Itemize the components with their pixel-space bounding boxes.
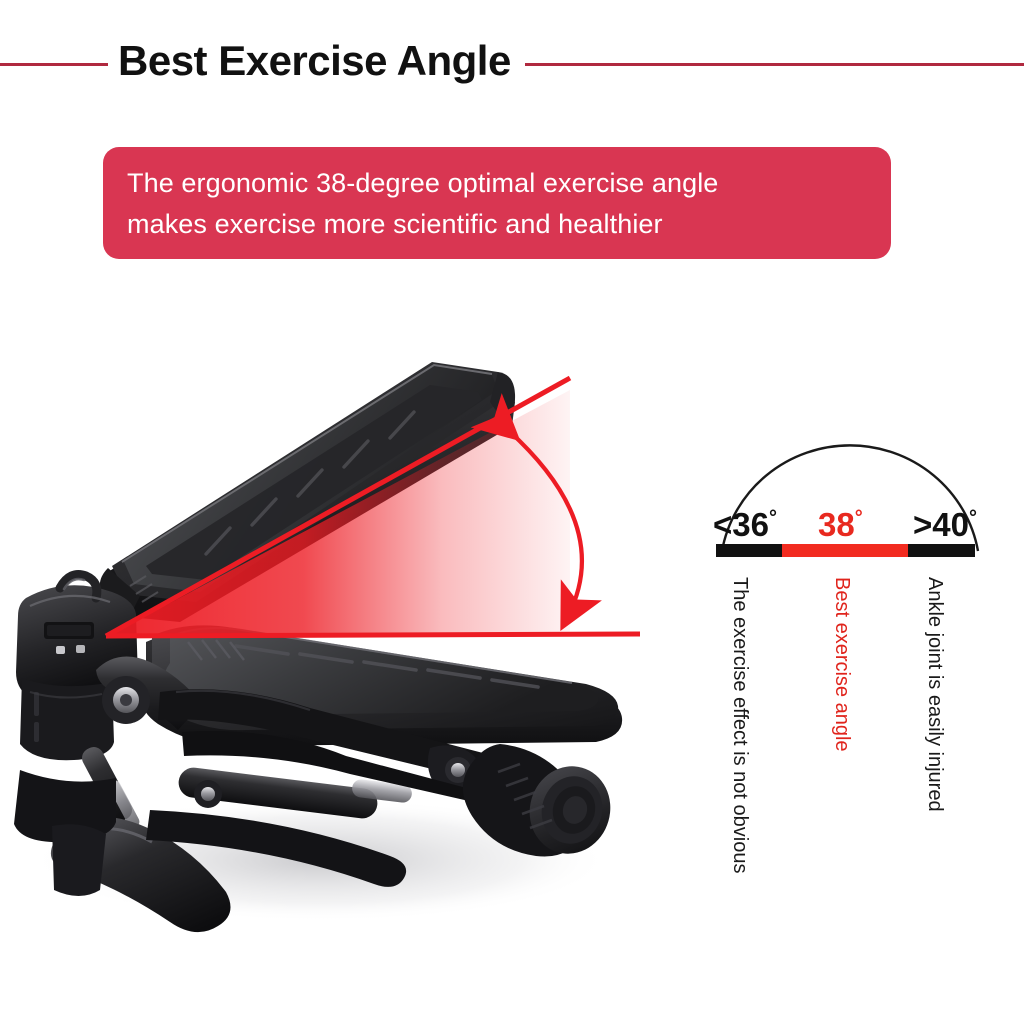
scale-segment-low [716,544,782,557]
pivot-bolt-cylinder [201,787,215,801]
scale-low-degree-symbol: ° [769,507,777,529]
scale-segment-high [908,544,975,557]
console-button-right[interactable] [76,645,85,653]
scale-best-degree-symbol: ° [855,507,863,529]
scale-bar [716,544,975,557]
banner-text-line-2: makes exercise more scientific and healt… [127,204,863,245]
angle-scale-diagram: <36° 38° >40° The exercise effect is not… [700,355,1000,975]
page-header: Best Exercise Angle [0,32,1024,98]
scale-best-value: 38 [818,506,855,543]
scale-label-high: >40° [913,508,977,541]
page-title: Best Exercise Angle [108,28,525,94]
scale-caption-high: Ankle joint is easily injured [925,577,945,812]
stepper-machine-illustration [0,340,690,980]
console-button-left[interactable] [56,646,65,654]
scale-label-low: <36° [713,508,777,541]
scale-caption-best: Best exercise angle [832,577,852,752]
product-photo [0,340,690,980]
scale-low-value: <36 [713,506,769,543]
scale-segment-best [782,544,908,557]
description-banner: The ergonomic 38-degree optimal exercise… [103,147,891,259]
upper-pedal [100,362,515,622]
banner-text-line-1: The ergonomic 38-degree optimal exercise… [127,163,863,204]
scale-high-value: >40 [913,506,969,543]
scale-high-degree-symbol: ° [969,507,977,529]
scale-caption-low: The exercise effect is not obvious [730,577,750,873]
scale-label-best: 38° [818,508,863,541]
